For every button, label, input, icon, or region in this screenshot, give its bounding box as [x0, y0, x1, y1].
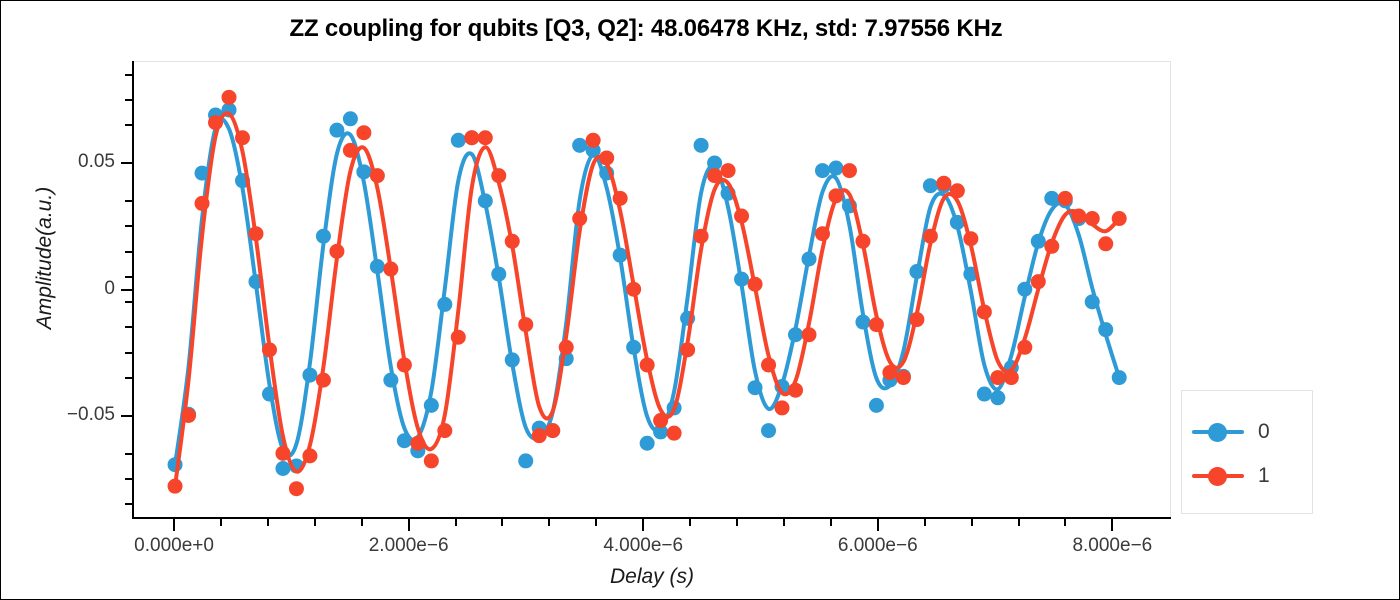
x-tick-minor	[501, 518, 503, 526]
y-tick-minor	[125, 74, 133, 76]
x-tick-minor	[689, 518, 691, 526]
data-point	[775, 400, 790, 415]
data-point	[1085, 294, 1100, 309]
y-tick-minor	[125, 124, 133, 126]
data-point	[518, 453, 533, 468]
data-point	[572, 138, 587, 153]
data-point	[694, 229, 709, 244]
y-tick-major	[121, 162, 133, 164]
data-point	[383, 373, 398, 388]
data-point	[222, 90, 237, 105]
data-point	[828, 161, 843, 176]
data-point	[990, 370, 1005, 385]
data-point	[262, 342, 277, 357]
data-point	[815, 163, 830, 178]
data-point	[424, 398, 439, 413]
data-point	[923, 229, 938, 244]
data-point	[329, 123, 344, 138]
y-tick-minor	[125, 251, 133, 253]
data-point	[1044, 239, 1059, 254]
x-tick-minor	[1018, 518, 1020, 526]
y-tick-minor	[125, 301, 133, 303]
data-point	[748, 277, 763, 292]
data-point	[977, 304, 992, 319]
data-point	[451, 133, 466, 148]
x-tick-minor	[361, 518, 363, 526]
x-tick-label: 2.000e−6	[369, 535, 449, 557]
data-point	[1031, 274, 1046, 289]
y-tick-label: −0.05	[67, 404, 115, 426]
data-point	[545, 423, 560, 438]
data-point	[532, 428, 547, 443]
data-point	[181, 408, 196, 423]
y-tick-label: 0	[104, 278, 115, 300]
data-point	[275, 461, 290, 476]
data-point	[208, 115, 223, 130]
y-tick-minor	[125, 352, 133, 354]
data-point	[370, 259, 385, 274]
data-point	[478, 193, 493, 208]
data-point	[302, 368, 317, 383]
data-point	[491, 267, 506, 282]
data-point	[518, 317, 533, 332]
x-tick-minor	[830, 518, 832, 526]
data-point	[869, 317, 884, 332]
y-tick-minor	[125, 377, 133, 379]
data-point	[599, 150, 614, 165]
data-point	[559, 340, 574, 355]
data-point	[491, 168, 506, 183]
data-point	[1058, 191, 1073, 206]
x-tick-major	[173, 518, 175, 531]
y-axis-label: Amplitude(a.u.)	[33, 138, 57, 378]
legend-label: 0	[1258, 420, 1270, 444]
data-point	[586, 133, 601, 148]
data-point	[842, 163, 857, 178]
y-tick-minor	[125, 225, 133, 227]
legend-marker-icon	[1192, 422, 1244, 442]
data-point	[329, 244, 344, 259]
x-tick-minor	[924, 518, 926, 526]
data-point	[356, 164, 371, 179]
data-point	[424, 453, 439, 468]
data-point	[397, 357, 412, 372]
data-point	[505, 234, 520, 249]
x-tick-major	[642, 518, 644, 531]
y-tick-minor	[125, 326, 133, 328]
x-tick-major	[1111, 518, 1113, 531]
data-point	[680, 342, 695, 357]
y-tick-minor	[125, 478, 133, 480]
data-point	[168, 479, 183, 494]
data-point	[734, 272, 749, 287]
data-point	[1098, 236, 1113, 251]
data-point	[302, 448, 317, 463]
data-point	[761, 423, 776, 438]
x-tick-major	[408, 518, 410, 531]
data-point	[626, 340, 641, 355]
x-tick-minor	[267, 518, 269, 526]
data-point	[748, 380, 763, 395]
legend-item-0[interactable]: 0	[1192, 419, 1270, 445]
x-tick-minor	[595, 518, 597, 526]
data-point	[788, 327, 803, 342]
y-tick-minor	[125, 276, 133, 278]
x-tick-minor	[1064, 518, 1066, 526]
x-axis-label: Delay (s)	[133, 565, 1171, 589]
data-point	[788, 383, 803, 398]
data-point	[1112, 370, 1127, 385]
x-tick-minor	[314, 518, 316, 526]
data-point	[869, 398, 884, 413]
series-0	[168, 102, 1127, 476]
series-1	[168, 90, 1127, 496]
data-point	[977, 387, 992, 402]
y-tick-major	[121, 289, 133, 291]
x-tick-minor	[548, 518, 550, 526]
data-point	[761, 357, 776, 372]
data-point	[667, 426, 682, 441]
data-point	[275, 446, 290, 461]
x-tick-major	[877, 518, 879, 531]
data-point	[370, 168, 385, 183]
plot-area	[133, 61, 1171, 518]
x-tick-label: 6.000e−6	[838, 535, 918, 557]
data-point	[451, 330, 466, 345]
legend-item-1[interactable]: 1	[1192, 463, 1270, 489]
data-point	[437, 423, 452, 438]
data-point	[707, 168, 722, 183]
y-tick-minor	[125, 99, 133, 101]
data-point	[1017, 340, 1032, 355]
data-point	[464, 130, 479, 145]
plot-svg	[134, 62, 1170, 517]
data-point	[963, 231, 978, 246]
data-point	[801, 327, 816, 342]
data-point	[1085, 211, 1100, 226]
data-point	[195, 196, 210, 211]
data-point	[1071, 209, 1086, 224]
chart-title: ZZ coupling for qubits [Q3, Q2]: 48.0647…	[1, 15, 1291, 43]
x-tick-minor	[783, 518, 785, 526]
data-point	[316, 229, 331, 244]
data-point	[1044, 191, 1059, 206]
data-point	[1017, 282, 1032, 297]
data-point	[828, 188, 843, 203]
data-point	[1098, 322, 1113, 337]
legend: 01	[1181, 390, 1313, 514]
x-axis-line	[133, 517, 1171, 519]
data-point	[990, 390, 1005, 405]
data-point	[734, 209, 749, 224]
legend-marker-icon	[1192, 466, 1244, 486]
y-tick-minor	[125, 200, 133, 202]
x-tick-minor	[736, 518, 738, 526]
x-tick-minor	[220, 518, 222, 526]
data-point	[235, 130, 250, 145]
data-point	[640, 436, 655, 451]
data-point	[343, 143, 358, 158]
data-point	[383, 262, 398, 277]
y-tick-minor	[125, 453, 133, 455]
x-tick-label: 0.000e+0	[134, 535, 214, 557]
data-point	[1004, 370, 1019, 385]
data-point	[640, 357, 655, 372]
data-point	[653, 413, 668, 428]
data-point	[505, 352, 520, 367]
data-point	[343, 111, 358, 126]
y-tick-minor	[125, 503, 133, 505]
data-point	[410, 436, 425, 451]
data-point	[572, 211, 587, 226]
data-point	[248, 226, 263, 241]
legend-dot	[1208, 423, 1227, 442]
y-tick-label: 0.05	[78, 151, 115, 173]
data-point	[397, 433, 412, 448]
x-tick-label: 4.000e−6	[603, 535, 683, 557]
data-point	[923, 178, 938, 193]
x-tick-label: 8.000e−6	[1072, 535, 1152, 557]
data-point	[613, 191, 628, 206]
data-point	[855, 315, 870, 330]
data-point	[855, 234, 870, 249]
data-point	[694, 138, 709, 153]
legend-label: 1	[1258, 464, 1270, 488]
data-point	[882, 365, 897, 380]
data-point	[1031, 234, 1046, 249]
x-tick-minor	[455, 518, 457, 526]
data-point	[936, 176, 951, 191]
data-point	[356, 125, 371, 140]
data-point	[950, 183, 965, 198]
chart-figure: ZZ coupling for qubits [Q3, Q2]: 48.0647…	[0, 0, 1400, 600]
y-tick-major	[121, 415, 133, 417]
data-point	[626, 282, 641, 297]
data-point	[289, 481, 304, 496]
legend-dot	[1208, 467, 1227, 486]
data-point	[316, 373, 331, 388]
data-point	[896, 370, 911, 385]
data-point	[909, 312, 924, 327]
data-point	[613, 248, 628, 263]
data-point	[815, 226, 830, 241]
x-tick-minor	[971, 518, 973, 526]
data-point	[1112, 211, 1127, 226]
data-point	[721, 163, 736, 178]
data-point	[478, 130, 493, 145]
data-point	[801, 251, 816, 266]
data-point	[437, 297, 452, 312]
